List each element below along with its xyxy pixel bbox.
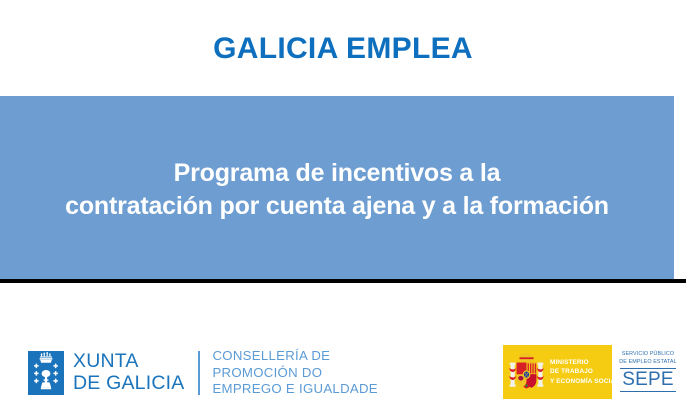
conselleria-line-3: EMPREGO E IGUALDADE	[212, 381, 377, 398]
banner-line-1: Programa de incentivos a la	[65, 157, 609, 190]
ministerio-de-trabajo-logo: MINISTERIO DE TRABAJO Y ECONOMÍA SOCIAL	[503, 345, 612, 399]
page-title: GALICIA EMPLEA	[213, 34, 473, 64]
sepe-subtitle-line-2: DE EMPLEO ESTATAL	[619, 358, 676, 366]
government-logos-group: MINISTERIO DE TRABAJO Y ECONOMÍA SOCIAL …	[503, 345, 684, 399]
banner-line-2: contratación por cuenta ajena y a la for…	[65, 190, 609, 223]
spain-coat-of-arms-icon	[508, 352, 545, 393]
xunta-wordmark-line-2: DE GALICIA	[73, 373, 184, 395]
sepe-subtitle: SERVICIO PÚBLICO DE EMPLEO ESTATAL	[619, 350, 676, 366]
xunta-wordmark: XUNTA DE GALICIA	[73, 351, 184, 395]
xunta-wordmark-line-1: XUNTA	[73, 351, 184, 373]
conselleria-line-2: PROMOCIÓN DO	[212, 365, 377, 382]
ministerio-line-2: DE TRABAJO	[550, 367, 619, 376]
conselleria-text: CONSELLERÍA DE PROMOCIÓN DO EMPREGO E IG…	[212, 348, 377, 398]
ministerio-line-3: Y ECONOMÍA SOCIAL	[550, 377, 619, 386]
ministerio-text: MINISTERIO DE TRABAJO Y ECONOMÍA SOCIAL	[550, 358, 619, 385]
banner-text-block: Programa de incentivos a la contratación…	[57, 157, 617, 223]
header-area: GALICIA EMPLEA	[0, 0, 686, 96]
conselleria-line-1: CONSELLERÍA DE	[212, 348, 377, 365]
sepe-wordmark: SEPE	[620, 368, 676, 392]
xunta-de-galicia-logo: XUNTA DE GALICIA CONSELLERÍA DE PROMOCIÓ…	[28, 350, 378, 396]
ministerio-line-1: MINISTERIO	[550, 358, 619, 367]
footer-area: XUNTA DE GALICIA CONSELLERÍA DE PROMOCIÓ…	[0, 283, 686, 410]
galicia-coat-of-arms-icon	[28, 351, 64, 395]
logo-vertical-divider	[198, 351, 200, 395]
sepe-subtitle-line-1: SERVICIO PÚBLICO	[619, 350, 676, 358]
program-banner: Programa de incentivos a la contratación…	[0, 96, 674, 279]
sepe-logo: SERVICIO PÚBLICO DE EMPLEO ESTATAL SEPE	[612, 345, 684, 399]
